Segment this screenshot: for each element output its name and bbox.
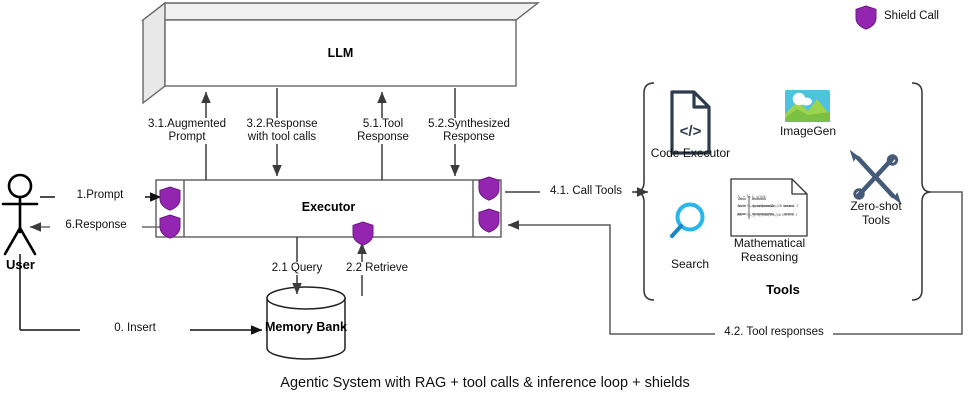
user-label: User [0, 257, 41, 272]
llm-label: LLM [165, 46, 516, 60]
tool-label-zero-shot-tools: Zero-shot Tools [838, 199, 914, 227]
edge-label-response-with-tool-calls: 3.2.Response with tool calls [232, 118, 332, 144]
tool-label-mathematical-reasoning: Mathematical Reasoning [722, 236, 817, 264]
tool-label-code-executor: Code Executor [638, 146, 743, 160]
shield-icon-legend [856, 6, 876, 29]
svg-text:</>: </> [680, 123, 702, 140]
user-actor[interactable] [3, 175, 37, 254]
legend-shield-label: Shield Call [884, 10, 939, 22]
diagram-canvas: </> A₀ = ⅟ₚ ∫ₚ x(t)dt Aₙ = ⅔ₚ ∫ₚ x(t)cos… [0, 0, 970, 411]
image-picture-icon[interactable] [785, 90, 830, 122]
edge-label-insert: 0. Insert [80, 322, 190, 335]
memory-bank-label: Memory Bank [252, 320, 360, 334]
edge-label-query: 2.1 Query [257, 262, 337, 275]
tool-label-imagegen: ImageGen [762, 124, 854, 138]
diagram-caption: Agentic System with RAG + tool calls & i… [0, 375, 970, 391]
edge-label-tool-responses: 4.2. Tool responses [715, 326, 833, 339]
edge-label-call-tools: 4.1. Call Tools [540, 185, 632, 198]
magnifier-icon[interactable] [672, 205, 703, 237]
edge-label-synthesized-response: 5.2.Synthesized Response [418, 118, 520, 144]
edge-label-response: 6.Response [50, 219, 142, 232]
edge-label-tool-response: 5.1.Tool Response [344, 118, 422, 144]
tool-label-search: Search [655, 257, 725, 271]
crossed-wrenches-icon[interactable] [852, 153, 899, 201]
edge-label-augmented-prompt: 3.1.Augmented Prompt [141, 118, 233, 144]
code-document-icon[interactable]: </> [672, 92, 709, 153]
diagram-vector-layer: </> A₀ = ⅟ₚ ∫ₚ x(t)dt Aₙ = ⅔ₚ ∫ₚ x(t)cos… [0, 0, 970, 411]
edge-label-retrieve: 2.2 Retrieve [331, 262, 423, 275]
tools-group-label: Tools [718, 282, 848, 297]
formula-page-icon[interactable]: A₀ = ⅟ₚ ∫ₚ x(t)dt Aₙ = ⅔ₚ ∫ₚ x(t)cos(2πₚ… [731, 179, 807, 236]
executor-label: Executor [184, 200, 473, 214]
edge-label-prompt: 1.Prompt [55, 189, 145, 202]
shield-icon [353, 222, 373, 245]
